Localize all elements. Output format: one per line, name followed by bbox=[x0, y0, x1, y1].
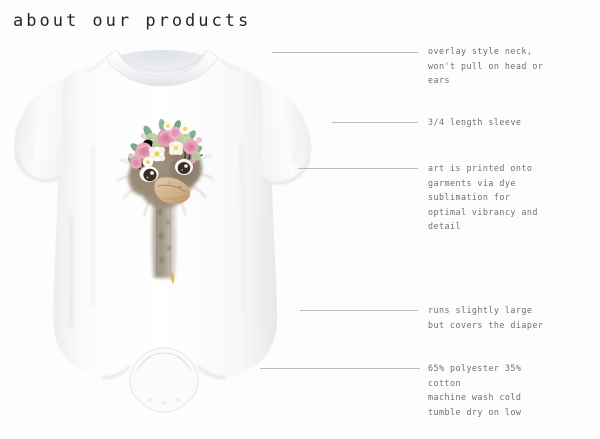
leader-line-print bbox=[298, 168, 418, 169]
leader-line-fabric-care bbox=[260, 368, 420, 369]
annotation-fabric-care: 65% polyester 35% cotton machine wash co… bbox=[428, 361, 598, 419]
leader-line-sleeve bbox=[332, 122, 418, 123]
product-photo bbox=[0, 26, 330, 439]
annotation-sleeve: 3/4 length sleeve bbox=[428, 115, 598, 130]
page-title: about our products bbox=[13, 11, 251, 31]
leader-line-neck bbox=[272, 52, 418, 53]
onesie-illustration bbox=[0, 26, 330, 439]
annotation-print: art is printed onto garments via dye sub… bbox=[428, 161, 598, 234]
annotation-neck: overlay style neck, won't pull on head o… bbox=[428, 44, 598, 88]
annotation-fit: runs slightly large but covers the diape… bbox=[428, 303, 598, 332]
leader-line-fit bbox=[300, 310, 418, 311]
about-our-products-page: about our products bbox=[0, 0, 600, 439]
